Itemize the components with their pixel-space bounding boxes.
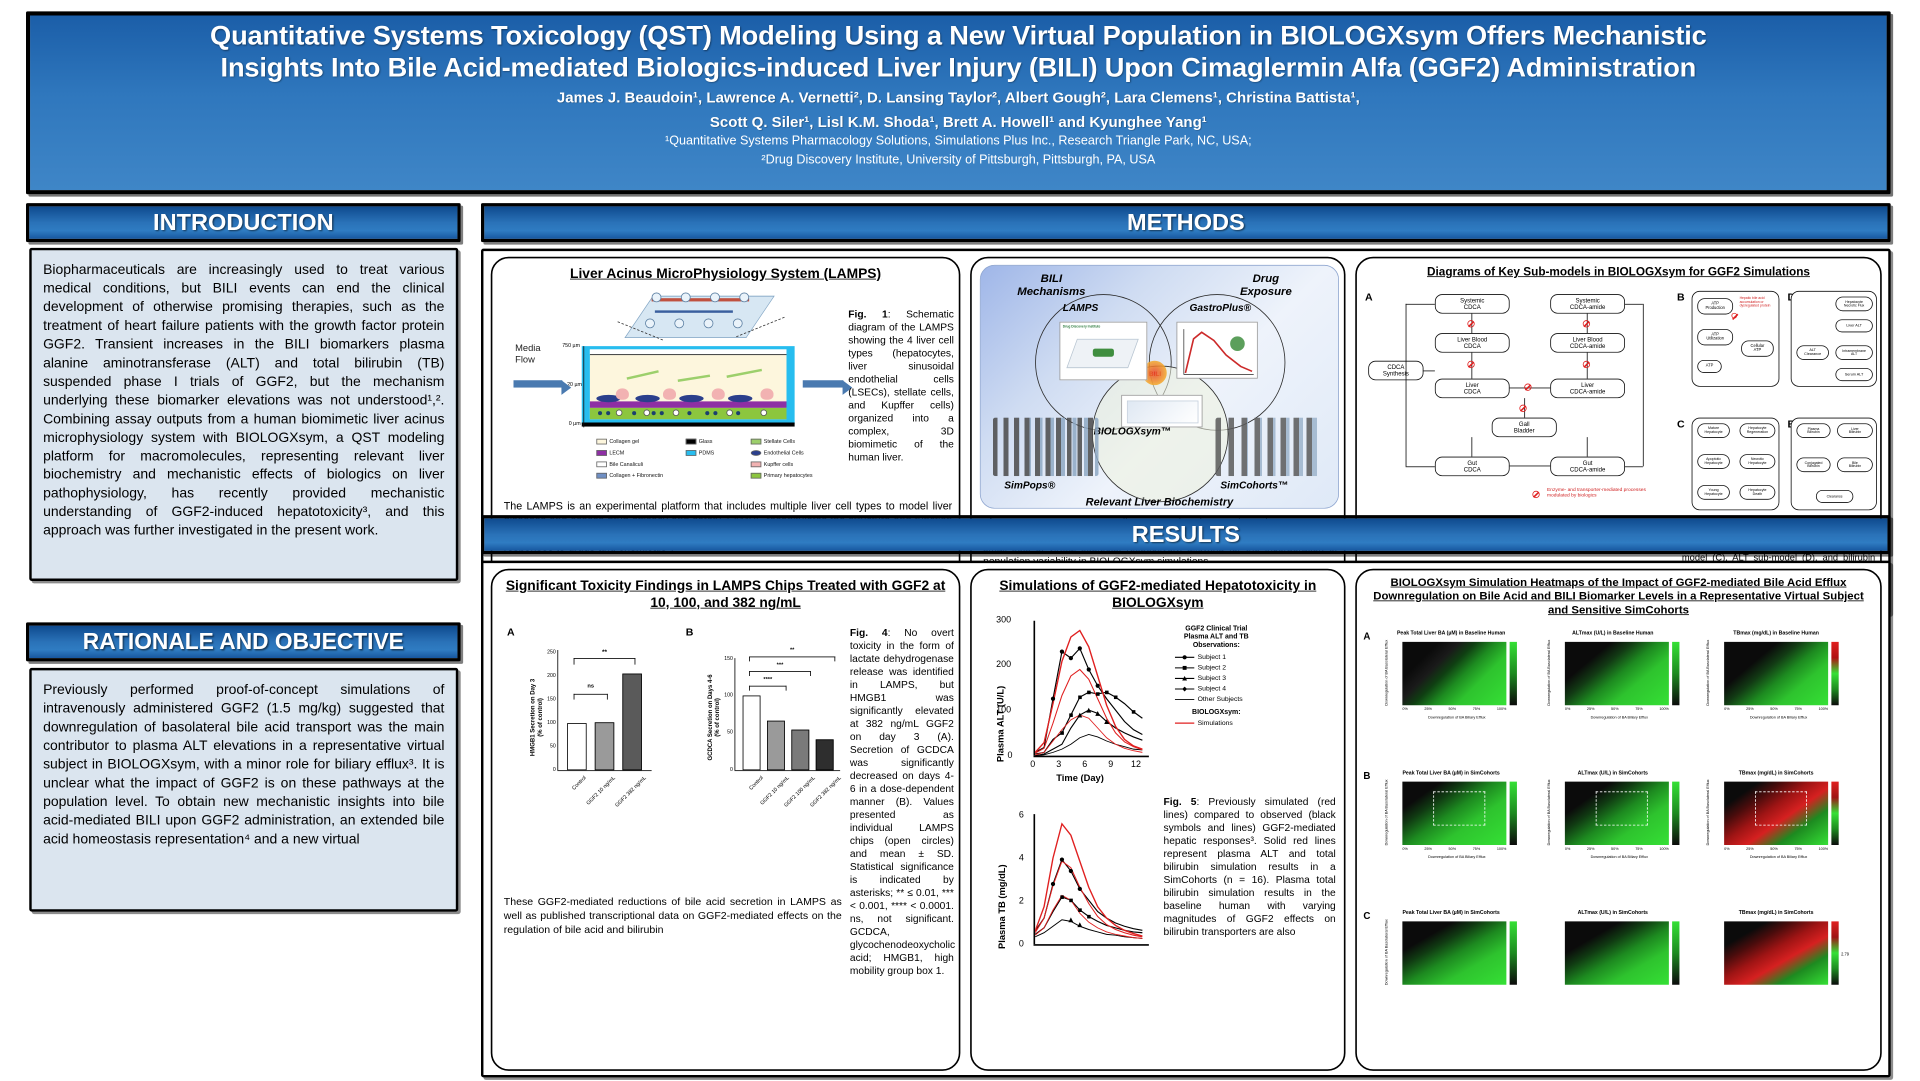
node-apoptotic-hepatocyte: ApoptoticHepatocyte — [1697, 454, 1730, 469]
no-entry-icon — [1524, 384, 1531, 391]
chart-b-xaxis — [735, 770, 841, 771]
tb-ytick: 2 — [1019, 896, 1024, 906]
heatmap-b1-ylabel: Downregulation of BA Basolateral Efflux — [1384, 780, 1388, 845]
heatmap-b3-highlight — [1755, 791, 1807, 825]
node-bile-bilirubin: BileBilirubin — [1837, 457, 1873, 472]
node-liver-cdca: LiverCDCA — [1435, 379, 1510, 399]
hepatocyte-nucleus — [652, 411, 656, 415]
media-flow-label: MediaFlow — [515, 343, 540, 366]
legend-marker-square — [1175, 664, 1195, 671]
submodel-b-box: ATPProduction ATPUtilization ATP Cellula… — [1692, 291, 1780, 387]
results-panel-simulations: Simulations of GGF2-mediated Hepatotoxic… — [970, 569, 1345, 1071]
lamps-legend-kupffer-cells: Kupffer cells — [751, 462, 793, 468]
node-liver-alt: Liver ALT — [1835, 319, 1872, 332]
no-entry-icon — [1467, 320, 1474, 327]
link-enterohepatic-left — [1406, 304, 1407, 467]
bile-canaliculus — [616, 410, 623, 417]
chip-well — [681, 293, 691, 303]
node-cdca-synthesis: CDCASynthesis — [1368, 361, 1423, 381]
chart-b-bracket-2 — [749, 671, 811, 676]
heatmap-a2-ylabel: Downregulation of BA Basolateral Efflux — [1547, 641, 1551, 706]
affiliation-1: ¹Quantitative Systems Pharmacology Solut… — [51, 133, 1865, 150]
chart-a-letter: A — [507, 626, 515, 638]
heatmap-title-a1: Peak Total Liver BA (µM) in Baseline Hum… — [1378, 631, 1524, 637]
depth-scale-line — [583, 346, 584, 427]
fig4-label: Fig. 4 — [850, 627, 888, 638]
heatmap-colorbar-a2 — [1672, 642, 1679, 705]
node-mature-hepatocyte: MatureHepatocyte — [1697, 423, 1730, 438]
heatmap-title-a2: ALTmax (U/L) in Baseline Human — [1544, 631, 1682, 637]
chart-b-sig-2: *** — [749, 662, 811, 668]
section-header-introduction: INTRODUCTION — [26, 203, 461, 242]
chip-well — [704, 319, 714, 329]
legend-item-other-subjects: Other Subjects — [1175, 695, 1269, 703]
chart-b-tick: 0 — [713, 767, 733, 773]
affiliation-2: ²Drug Discovery Institute, University of… — [51, 152, 1865, 169]
heatmap-b2-ylabel: Downregulation of BA Basolateral Efflux — [1547, 780, 1551, 845]
tb-ytick: 6 — [1019, 810, 1024, 820]
author-line-2: Scott Q. Siler¹, Lisl K.M. Shoda¹, Brett… — [51, 112, 1865, 132]
submodels-panel-title: Diagrams of Key Sub-models in BIOLOGXsym… — [1357, 258, 1880, 283]
kupffer-cell — [663, 388, 676, 399]
submodel-letter-c: C — [1677, 418, 1685, 430]
venn-lamps-thumbnail: Drug Discovery Institute — [1060, 322, 1148, 381]
heatmap-c3-cbar-value: 2.79 — [1841, 952, 1849, 957]
legend-item-subject-1: Subject 1 — [1175, 652, 1269, 660]
heatmap-title-a3: TBmax (mg/dL) in Baseline Human — [1705, 631, 1848, 637]
alt-ytick: 0 — [1008, 751, 1013, 761]
heatmap-a3-ylabel: Downregulation of BA Basolateral Efflux — [1706, 641, 1710, 706]
endothelial-cell — [728, 395, 752, 402]
tb-ytick: 4 — [1019, 853, 1024, 863]
heatmap-row-letter-c: C — [1363, 910, 1370, 921]
node-cellular-atp: CellularATP — [1741, 340, 1774, 356]
venn-simcohorts-label: SimCohorts™ — [1220, 479, 1288, 490]
alt-ytick: 300 — [996, 615, 1011, 625]
heatmap-title-b3: TBmax (mg/dL) in SimCohorts — [1705, 770, 1848, 776]
bile-canaliculus — [644, 410, 651, 417]
chart-b-bracket-1 — [749, 686, 786, 691]
heatmap-b3-xlabel: Downregulation of BA Biliary Efflux — [1729, 855, 1828, 859]
heatmap-b2-xticks: 0%25%50%75%100% — [1565, 847, 1669, 851]
node-gall-bladder: GallBladder — [1492, 418, 1557, 438]
legend-header-4: BIOLOGXsym: — [1164, 708, 1270, 716]
node-bilirubin-clearance: Clearance — [1816, 490, 1853, 503]
chart-b-yaxis — [735, 658, 736, 770]
kupffer-cell — [616, 388, 629, 399]
heatmap-b3-xticks: 0%25%50%75%100% — [1724, 847, 1828, 851]
venn-gastroplus-thumbnail — [1177, 322, 1258, 379]
lamps-legend-collagen-fibronectin: Collagen + Fibronectin — [596, 473, 663, 479]
node-young-hepatocyte: YoungHepatocyte — [1697, 485, 1730, 500]
heatmap-colorbar-c3 — [1831, 921, 1838, 984]
fig1-caption-text: : Schematic diagram of the LAMPS showing… — [848, 309, 954, 463]
legend-item-simulations: Simulations — [1175, 718, 1269, 726]
section-header-results-label: RESULTS — [1132, 521, 1240, 548]
node-liver-cdca-amide: LiverCDCA-amide — [1550, 379, 1625, 399]
hepatocyte-nucleus — [598, 411, 602, 415]
chart-a-bar — [595, 722, 615, 770]
fig1-label: Fig. 1 — [848, 309, 887, 320]
heatmap-b1-xlabel: Downregulation of BA Biliary Efflux — [1407, 855, 1506, 859]
chart-a-tick: 50 — [536, 743, 556, 749]
endothelial-cell — [635, 395, 659, 402]
hepatocyte-nucleus — [687, 411, 691, 415]
hepatocyte-nucleus — [713, 411, 717, 415]
submodel-letter-b: B — [1677, 291, 1685, 303]
hepatocyte-nucleus — [660, 411, 664, 415]
chip-well — [739, 293, 749, 303]
fig1-caption: Fig. 1: Schematic diagram of the LAMPS s… — [848, 309, 954, 465]
fig5-caption-text: : Previously simulated (red lines) compa… — [1164, 796, 1336, 937]
alt-xtick: 12 — [1131, 760, 1141, 770]
chip-3d-body — [624, 296, 774, 338]
chart-b-bar — [816, 739, 834, 770]
node-hepatocyte-regeneration: HepatocyteRegeneration — [1740, 423, 1776, 438]
section-header-methods-label: METHODS — [1127, 209, 1245, 236]
lamps-legend-primary-hepatocytes: Primary hepatocytes — [751, 473, 813, 479]
heatmap-a2-xticks: 0%25%50%75%100% — [1565, 707, 1669, 711]
bile-canaliculus — [726, 410, 733, 417]
fig4-caption: Fig. 4: No overt toxicity in the form of… — [850, 627, 954, 978]
link-enterohepatic-right — [1643, 304, 1644, 467]
tb-chart-ylabel: Plasma TB (mg/dL) — [998, 819, 1008, 949]
node-liver-bilirubin: LiverBilirubin — [1837, 423, 1873, 438]
heatmap-a1-xlabel: Downregulation of BA Biliary Efflux — [1407, 715, 1506, 719]
chip-glass-layer — [582, 423, 795, 427]
hepatocyte-nucleus — [606, 411, 610, 415]
no-entry-icon — [1731, 313, 1737, 319]
fig5-caption: Fig. 5: Previously simulated (red lines)… — [1164, 796, 1336, 939]
submodel-legend-note: Enzyme- and transporter-mediated process… — [1547, 488, 1653, 499]
lamps-legend-stellate-cells: Stellate Cells — [751, 439, 795, 445]
node-conjugated-bilirubin: ConjugatedBilirubin — [1796, 457, 1830, 472]
alt-xtick: 6 — [1082, 760, 1087, 770]
legend-item-subject-2: Subject 2 — [1175, 663, 1269, 671]
heatmap-title-c2: ALTmax (U/L) in SimCohorts — [1544, 910, 1682, 916]
lamps-legend-glass: Glass — [686, 439, 713, 445]
introduction-text: Biopharmaceuticals are increasingly used… — [43, 261, 444, 538]
venn-gastroplus-label: GastroPlus® — [1190, 302, 1252, 313]
heatmap-a2 — [1565, 642, 1669, 705]
heatmap-c1-ylabel: Downregulation of BA Basolateral Efflux — [1384, 920, 1388, 985]
lamps-legend-lecm: LECM — [596, 450, 624, 456]
chip-well — [733, 319, 743, 329]
legend-marker-diamond — [1175, 686, 1195, 693]
link-enterohepatic-right-bottom — [1625, 466, 1643, 467]
chart-a-tick: 200 — [536, 673, 556, 679]
chart-a-xaxis — [557, 770, 651, 771]
node-hepatocyte-necrotic-flux: HepatocyteNecrotic Flux — [1835, 297, 1872, 312]
chip-channel-blue — [655, 310, 733, 312]
no-entry-icon — [1583, 320, 1590, 327]
link-enterohepatic-left-top — [1406, 304, 1435, 305]
no-entry-icon — [1519, 405, 1526, 412]
author-line-1: James J. Beaudoin¹, Lawrence A. Vernetti… — [51, 88, 1865, 108]
heatmap-c1 — [1402, 921, 1506, 984]
poster-title-line-2: Insights Into Bile Acid-mediated Biologi… — [51, 52, 1865, 84]
node-liver-blood-cdca: Liver BloodCDCA — [1435, 333, 1510, 353]
node-systemic-cdca-amide: SystemicCDCA-amide — [1550, 294, 1625, 314]
heatmap-a3 — [1724, 642, 1828, 705]
hepatocyte-nucleus — [736, 411, 740, 415]
venn-relevant-liver-biochemistry-label: Relevant Liver Biochemistry — [972, 496, 1346, 508]
submodel-b-red-note: Hepatic bile acid accumulation or dysreg… — [1740, 297, 1777, 308]
chip-well — [652, 293, 662, 303]
venn-biologxsym-thumbnail — [1121, 395, 1202, 428]
bile-canaliculus — [673, 410, 680, 417]
heatmap-a1-xticks: 0%25%50%75%100% — [1402, 707, 1506, 711]
alt-ytick: 100 — [996, 705, 1011, 715]
venn-simpops-label: SimPops® — [1004, 479, 1055, 490]
chip-channel-red — [652, 298, 750, 301]
heatmap-colorbar-b1 — [1510, 782, 1517, 845]
chart-a-yaxis — [557, 650, 558, 770]
bile-canaliculus — [761, 410, 768, 417]
lamps-legend-collagen-gel: Collagen gel — [596, 439, 639, 445]
fig5-label: Fig. 5 — [1164, 796, 1197, 807]
chart-b-bracket-3 — [749, 657, 835, 662]
chart-b-bar — [743, 696, 761, 771]
section-header-rationale-label: RATIONALE AND OBJECTIVE — [83, 629, 404, 655]
alt-chart-xlabel: Time (Day) — [1056, 774, 1104, 784]
legend-header-1: GGF2 Clinical Trial — [1164, 624, 1270, 632]
chip-well — [645, 319, 655, 329]
chart-b-sig-1: **** — [749, 677, 786, 683]
hepatocyte-nucleus — [632, 411, 636, 415]
chart-b-letter: B — [686, 626, 694, 638]
section-header-methods: METHODS — [481, 203, 1891, 242]
heatmap-title-c3: TBmax (mg/dL) in SimCohorts — [1705, 910, 1848, 916]
node-hepatocyte-death: HepatocyteDeath — [1740, 485, 1776, 500]
chip-well — [710, 293, 720, 303]
chart-b-bar — [791, 730, 809, 771]
heatmap-a1 — [1402, 642, 1506, 705]
chart-a-ns-bracket — [574, 694, 608, 700]
heatmap-b1-highlight — [1433, 791, 1485, 825]
chart-a-ns-label: ns — [574, 683, 608, 689]
submodel-c-box: MatureHepatocyte HepatocyteRegeneration … — [1692, 418, 1780, 511]
alt-chart-plot — [1035, 618, 1157, 758]
results-panel1-title: Significant Toxicity Findings in LAMPS C… — [492, 570, 958, 614]
alt-ytick: 200 — [996, 660, 1011, 670]
depth-label-0: 0 µm — [569, 421, 581, 427]
link-gall-to-gut — [1471, 437, 1472, 457]
depth-label-750: 750 µm — [562, 343, 580, 349]
heatmap-a2-xlabel: Downregulation of BA Biliary Efflux — [1570, 715, 1669, 719]
legend-header-2: Plasma ALT and TB — [1164, 632, 1270, 640]
tb-chart-plot — [1035, 811, 1157, 946]
hepatocyte-nucleus — [705, 411, 709, 415]
chart-a-tick: 100 — [536, 720, 556, 726]
results-panel-lamps-toxicity: Significant Toxicity Findings in LAMPS C… — [491, 569, 961, 1071]
submodel-e-box: PlasmaBilirubin LiverBilirubin Conjugate… — [1791, 418, 1877, 511]
results-panel3-title: BIOLOGXsym Simulation Heatmaps of the Im… — [1357, 570, 1880, 618]
heatmap-a1-ylabel: Downregulation of BA Basolateral Efflux — [1384, 641, 1388, 706]
results-panel-heatmaps: BIOLOGXsym Simulation Heatmaps of the Im… — [1355, 569, 1882, 1071]
chart-a-bar — [622, 674, 642, 771]
alt-xtick: 3 — [1056, 760, 1061, 770]
legend-item-subject-4: Subject 4 — [1175, 684, 1269, 692]
endothelial-cell — [679, 395, 703, 402]
chart-a-star-bracket — [574, 658, 636, 665]
node-necrotic-hepatocyte: NecroticHepatocyte — [1740, 454, 1776, 469]
kupffer-cell — [712, 388, 725, 399]
heatmap-b1-xticks: 0%25%50%75%100% — [1402, 847, 1506, 851]
heatmap-colorbar-b2 — [1672, 782, 1679, 845]
rationale-text: Previously performed proof-of-concept si… — [43, 681, 444, 846]
section-header-results: RESULTS — [481, 515, 1891, 554]
heatmap-colorbar-b3 — [1831, 782, 1838, 845]
alt-chart-ylabel: Plasma ALT (U/L) — [996, 632, 1006, 762]
chart-a-star-label: ** — [574, 648, 636, 655]
alt-xtick: 9 — [1108, 760, 1113, 770]
legend-marker-red-line — [1175, 720, 1195, 727]
pk-curve-icon — [1177, 323, 1258, 380]
submodel-d-box: HepatocyteNecrotic Flux Liver ALT ALTCle… — [1791, 291, 1877, 387]
link-cdca-synthesis — [1424, 371, 1435, 372]
legend-item-subject-3: Subject 3 — [1175, 674, 1269, 682]
heatmap-colorbar-c1 — [1510, 921, 1517, 984]
simpops-crowd-graphic — [993, 418, 1099, 477]
heatmap-colorbar-a1 — [1510, 642, 1517, 705]
heatmap-c3 — [1724, 921, 1828, 984]
lamps-legend-bile-canaliculi: Bile Canaliculi — [596, 462, 643, 468]
heatmap-row-letter-a: A — [1363, 631, 1370, 642]
fig4-caption-text: : No overt toxicity in the form of lacta… — [850, 627, 955, 976]
link-enterohepatic-right-top — [1625, 304, 1643, 305]
chart-a-tick: 0 — [536, 767, 556, 773]
legend-marker-circle — [1175, 654, 1195, 661]
node-liver-blood-cdca-amide: Liver BloodCDCA-amide — [1550, 333, 1625, 353]
heatmap-b2-xlabel: Downregulation of BA Biliary Efflux — [1570, 855, 1669, 859]
media-flow-arrow-out — [803, 380, 844, 387]
poster-root: Quantitative Systems Toxicology (QST) Mo… — [0, 0, 1920, 1081]
venn-bili-mechanisms-text: BILI Mechanisms — [1017, 271, 1085, 297]
chart-b-tick: 50 — [713, 730, 733, 736]
simcohorts-crowd-graphic — [1216, 418, 1320, 477]
section-header-introduction-label: INTRODUCTION — [153, 209, 334, 236]
chip-well — [674, 319, 684, 329]
link-gut-cdca-amide — [1510, 466, 1551, 467]
venn-lamps-label: LAMPS — [1063, 302, 1099, 313]
node-atp: ATP — [1697, 360, 1721, 373]
results-panel1-body: These GGF2-mediated reductions of bile a… — [504, 895, 842, 936]
node-gut-cdca-amide: GutCDCA-amide — [1550, 457, 1625, 477]
submodel-letter-a: A — [1365, 291, 1373, 303]
lamps-legend-endothelial-cells: Endothelial Cells — [751, 450, 804, 456]
heatmap-a3-xticks: 0%25%50%75%100% — [1724, 707, 1828, 711]
chart-b-ylabel: GCDCA Secretion on Days 4-6 (% of contro… — [706, 652, 721, 782]
node-intracellular-alt: IntramembraneALT — [1835, 345, 1872, 360]
heatmap-title-c1: Peak Total Liver BA (µM) in SimCohorts — [1378, 910, 1524, 916]
tb-ytick: 0 — [1019, 939, 1024, 949]
chart-b-tick: 150 — [713, 656, 733, 662]
chip-bile-canaliculi-top — [590, 349, 787, 355]
heatmap-c2 — [1565, 921, 1669, 984]
venn-biologxsym-label: BIOLOGXsym™ — [1094, 426, 1171, 437]
legend-marker-triangle — [1175, 675, 1195, 682]
chart-a-tick: 250 — [536, 649, 556, 655]
heatmap-colorbar-c2 — [1672, 921, 1679, 984]
legend-header-3: Observations: — [1164, 640, 1270, 648]
link-enterohepatic-left-bottom — [1406, 466, 1435, 467]
node-plasma-bilirubin: PlasmaBilirubin — [1796, 423, 1830, 438]
chart-a-bar — [567, 723, 587, 770]
heatmap-b2-highlight — [1596, 791, 1648, 825]
heatmap-row-letter-b: B — [1363, 770, 1370, 781]
heatmap-a3-xlabel: Downregulation of BA Biliary Efflux — [1729, 715, 1828, 719]
fig5-legend: GGF2 Clinical Trial Plasma ALT and TB Ob… — [1164, 624, 1270, 726]
node-atp-production: ATPProduction — [1697, 298, 1733, 314]
rationale-body: Previously performed proof-of-concept si… — [29, 668, 458, 912]
node-serum-alt: Serum ALT — [1835, 368, 1872, 381]
venn-label-bili-mechanisms: BILI Mechanisms — [995, 271, 1109, 297]
no-entry-icon — [1467, 361, 1474, 368]
chart-a-tick: 150 — [536, 696, 556, 702]
lamps-legend-pdms: PDMS — [686, 450, 714, 456]
poster-title-banner: Quantitative Systems Toxicology (QST) Mo… — [26, 11, 1891, 194]
poster-title-line-1: Quantitative Systems Toxicology (QST) Mo… — [51, 20, 1865, 52]
node-systemic-cdca: SystemicCDCA — [1435, 294, 1510, 314]
alt-xtick: 0 — [1030, 760, 1035, 770]
venn-label-drug-exposure: Drug Exposure — [1209, 271, 1323, 297]
node-atp-utilization: ATPUtilization — [1697, 329, 1733, 345]
node-gut-cdca: GutCDCA — [1435, 457, 1510, 477]
heatmap-title-b2: ALTmax (U/L) in SimCohorts — [1544, 770, 1682, 776]
chart-b-sig-3: ** — [749, 648, 835, 654]
venn-drug-exposure-text: Drug Exposure — [1240, 271, 1292, 297]
media-flow-arrow-in — [514, 380, 563, 387]
results-panel2-title: Simulations of GGF2-mediated Hepatotoxic… — [972, 570, 1344, 614]
heatmap-title-b1: Peak Total Liver BA (µM) in SimCohorts — [1378, 770, 1524, 776]
no-entry-icon — [1583, 361, 1590, 368]
heatmap-b3-ylabel: Downregulation of BA Basolateral Efflux — [1706, 780, 1710, 845]
link-gall-to-gut-amide — [1587, 437, 1588, 457]
legend-marker-line — [1175, 696, 1195, 703]
results-panel1-body-text: These GGF2-mediated reductions of bile a… — [504, 895, 842, 935]
chart-b-tick: 100 — [713, 692, 733, 698]
kupffer-cell — [761, 388, 774, 399]
section-header-rationale: RATIONALE AND OBJECTIVE — [26, 622, 461, 661]
heatmap-colorbar-a3 — [1831, 642, 1838, 705]
node-alt-clearance: ALTClearance — [1796, 345, 1829, 360]
chart-b-bar — [767, 721, 785, 771]
introduction-body: Biopharmaceuticals are increasingly used… — [29, 248, 458, 581]
